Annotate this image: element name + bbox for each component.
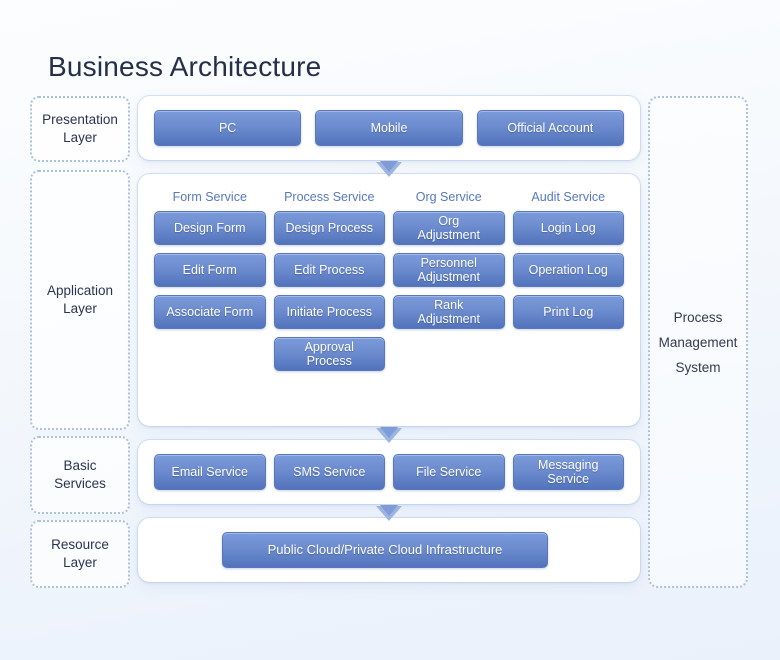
- column-header-form-service: Form Service: [154, 190, 266, 204]
- node-pc[interactable]: PC: [154, 110, 301, 146]
- cell: Login Log: [513, 211, 625, 245]
- application-row: Edit Form Edit Process Personnel Adjustm…: [154, 253, 624, 287]
- node-initiate-process[interactable]: Initiate Process: [274, 295, 386, 329]
- node-edit-process[interactable]: Edit Process: [274, 253, 386, 287]
- page-title: Business Architecture: [48, 51, 321, 83]
- cell: Design Process: [274, 211, 386, 245]
- arrow-presentation-to-application-icon: [374, 160, 404, 180]
- node-official-account[interactable]: Official Account: [477, 110, 624, 146]
- layer-label-resource: Resource Layer: [30, 520, 130, 588]
- application-column-headers: Form Service Process Service Org Service…: [154, 190, 624, 204]
- node-file-service[interactable]: File Service: [393, 454, 505, 490]
- cell: Approval Process: [274, 337, 386, 371]
- application-row: Approval Process: [154, 337, 624, 371]
- cell: Operation Log: [513, 253, 625, 287]
- cell: Design Form: [154, 211, 266, 245]
- cell: Print Log: [513, 295, 625, 329]
- node-associate-form[interactable]: Associate Form: [154, 295, 266, 329]
- node-print-log[interactable]: Print Log: [513, 295, 625, 329]
- node-login-log[interactable]: Login Log: [513, 211, 625, 245]
- node-messaging-service[interactable]: Messaging Service: [513, 454, 625, 490]
- layer-label-basic-services: Basic Services: [30, 436, 130, 514]
- application-row: Associate Form Initiate Process Rank Adj…: [154, 295, 624, 329]
- column-header-org-service: Org Service: [393, 190, 505, 204]
- resource-layer-row: Public Cloud/Private Cloud Infrastructur…: [222, 532, 548, 568]
- node-design-form[interactable]: Design Form: [154, 211, 266, 245]
- node-operation-log[interactable]: Operation Log: [513, 253, 625, 287]
- node-personnel-adjustment[interactable]: Personnel Adjustment: [393, 253, 505, 287]
- node-sms-service[interactable]: SMS Service: [274, 454, 386, 490]
- node-design-process[interactable]: Design Process: [274, 211, 386, 245]
- side-panel-process-management-system: Process Management System: [648, 96, 748, 588]
- basic-services-row: Email Service SMS Service File Service M…: [154, 454, 624, 490]
- application-layer-grid: Form Service Process Service Org Service…: [154, 190, 624, 379]
- node-email-service[interactable]: Email Service: [154, 454, 266, 490]
- arrow-basic-to-resource-icon: [374, 504, 404, 524]
- column-header-process-service: Process Service: [274, 190, 386, 204]
- layer-label-presentation: Presentation Layer: [30, 96, 130, 162]
- node-rank-adjustment[interactable]: Rank Adjustment: [393, 295, 505, 329]
- cell: Initiate Process: [274, 295, 386, 329]
- layer-label-application: Application Layer: [30, 170, 130, 430]
- node-org-adjustment[interactable]: Org Adjustment: [393, 211, 505, 245]
- column-header-audit-service: Audit Service: [513, 190, 625, 204]
- architecture-diagram: Presentation Layer Application Layer Bas…: [0, 92, 780, 592]
- cell: Personnel Adjustment: [393, 253, 505, 287]
- node-cloud-infrastructure[interactable]: Public Cloud/Private Cloud Infrastructur…: [222, 532, 548, 568]
- application-row: Design Form Design Process Org Adjustmen…: [154, 211, 624, 245]
- arrow-application-to-basic-icon: [374, 426, 404, 446]
- cell: Edit Process: [274, 253, 386, 287]
- presentation-layer-row: PC Mobile Official Account: [154, 110, 624, 146]
- cell: Org Adjustment: [393, 211, 505, 245]
- node-edit-form[interactable]: Edit Form: [154, 253, 266, 287]
- cell: Rank Adjustment: [393, 295, 505, 329]
- cell: Associate Form: [154, 295, 266, 329]
- node-mobile[interactable]: Mobile: [315, 110, 462, 146]
- cell: Edit Form: [154, 253, 266, 287]
- node-approval-process[interactable]: Approval Process: [274, 337, 386, 371]
